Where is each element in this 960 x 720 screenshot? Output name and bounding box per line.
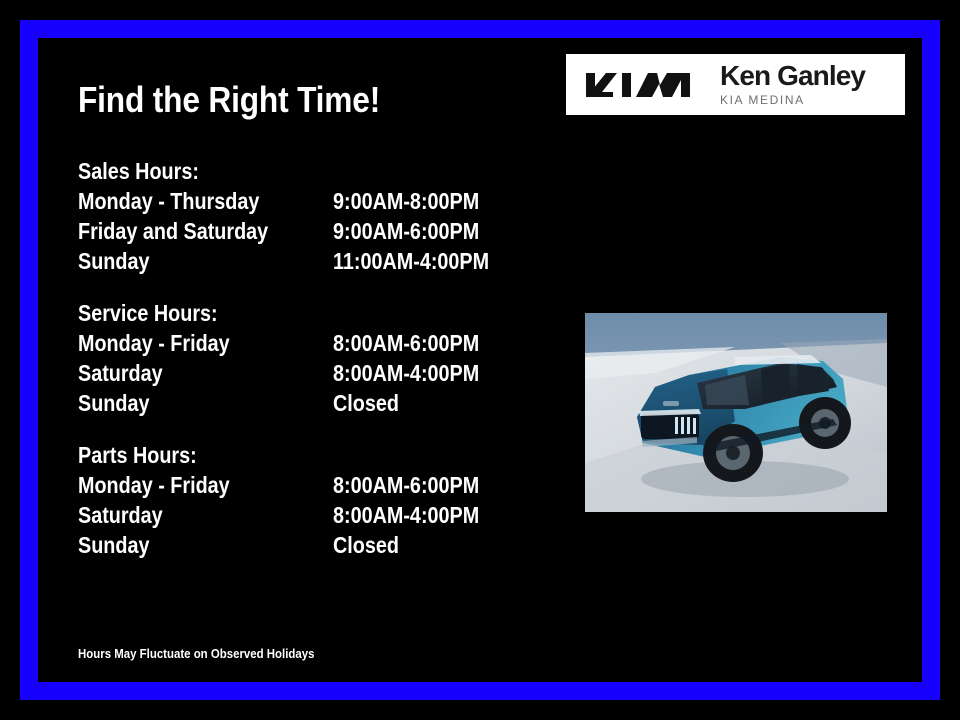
hours-row: Monday - Thursday9:00AM-8:00PM <box>78 186 558 216</box>
hours-row-day: Monday - Friday <box>78 470 230 500</box>
hours-row: Monday - Friday8:00AM-6:00PM <box>78 470 558 500</box>
hours-row-time: 11:00AM-4:00PM <box>333 246 489 276</box>
hours-row: Sunday11:00AM-4:00PM <box>78 246 558 276</box>
hours-row-time: 9:00AM-6:00PM <box>333 216 479 246</box>
dealer-subtitle: KIA MEDINA <box>720 93 865 108</box>
hours-row-day: Sunday <box>78 246 149 276</box>
kia-logo-icon <box>580 70 696 100</box>
hours-row-day: Sunday <box>78 388 149 418</box>
hours-block: Parts Hours:Monday - Friday8:00AM-6:00PM… <box>78 440 558 560</box>
holiday-disclaimer: Hours May Fluctuate on Observed Holidays <box>78 645 314 663</box>
hours-block: Sales Hours:Monday - Thursday9:00AM-8:00… <box>78 156 558 276</box>
hours-row-time: Closed <box>333 530 399 560</box>
hours-block-heading: Parts Hours: <box>78 440 491 470</box>
hours-row: Saturday8:00AM-4:00PM <box>78 500 558 530</box>
hours-row: Saturday8:00AM-4:00PM <box>78 358 558 388</box>
hours-row-day: Monday - Friday <box>78 328 230 358</box>
dealer-name: Ken Ganley <box>720 61 865 91</box>
hours-row-time: 8:00AM-4:00PM <box>333 500 479 530</box>
vehicle-photo <box>585 313 887 512</box>
hours-row-time: 8:00AM-6:00PM <box>333 328 479 358</box>
hours-row-day: Friday and Saturday <box>78 216 268 246</box>
hours-row-time: 9:00AM-8:00PM <box>333 186 479 216</box>
page-title: Find the Right Time! <box>78 78 380 122</box>
hours-row-day: Sunday <box>78 530 149 560</box>
hours-row-time: 8:00AM-4:00PM <box>333 358 479 388</box>
hours-block-heading: Service Hours: <box>78 298 491 328</box>
hours-row-day: Saturday <box>78 358 163 388</box>
hours-row-day: Monday - Thursday <box>78 186 259 216</box>
hours-block: Service Hours:Monday - Friday8:00AM-6:00… <box>78 298 558 418</box>
hours-row-day: Saturday <box>78 500 163 530</box>
slide-content-area: Find the Right Time! Sales Hours:Monday … <box>38 38 922 682</box>
hours-row: SundayClosed <box>78 388 558 418</box>
hours-row-time: 8:00AM-6:00PM <box>333 470 479 500</box>
dealer-name-group: Ken Ganley KIA MEDINA <box>720 61 865 108</box>
hours-row: Monday - Friday8:00AM-6:00PM <box>78 328 558 358</box>
hours-row: Friday and Saturday9:00AM-6:00PM <box>78 216 558 246</box>
hours-row: SundayClosed <box>78 530 558 560</box>
dealer-logo-banner: Ken Ganley KIA MEDINA <box>566 54 905 115</box>
slide-canvas: Find the Right Time! Sales Hours:Monday … <box>0 0 960 720</box>
hours-list: Sales Hours:Monday - Thursday9:00AM-8:00… <box>78 156 558 560</box>
hours-block-heading: Sales Hours: <box>78 156 491 186</box>
hours-row-time: Closed <box>333 388 399 418</box>
